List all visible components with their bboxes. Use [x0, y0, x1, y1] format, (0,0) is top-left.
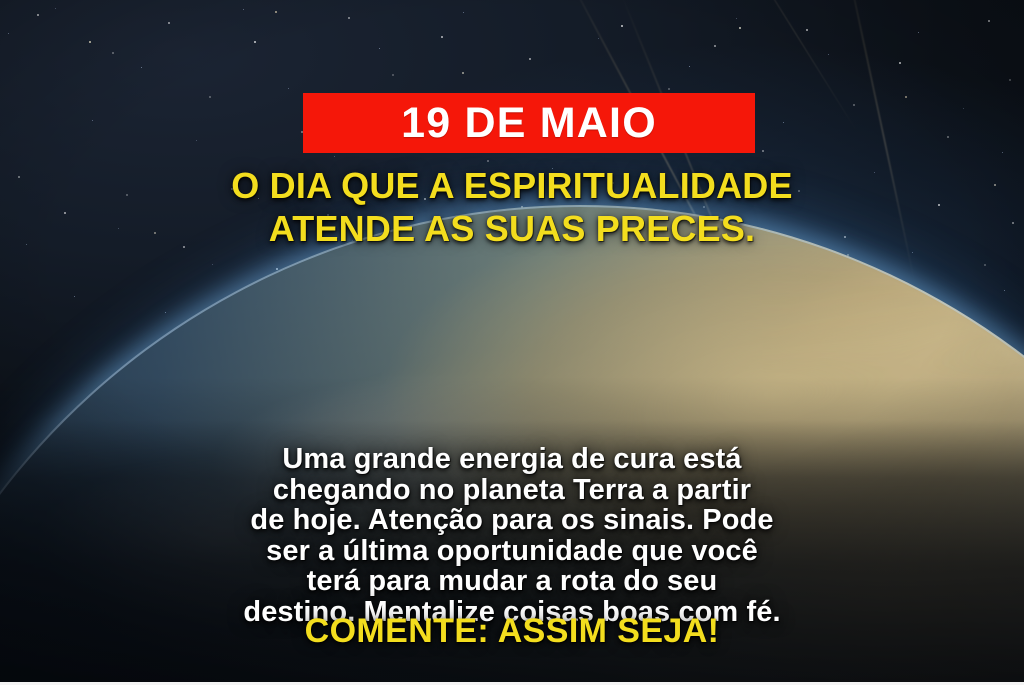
date-banner-label: 19 DE MAIO: [401, 102, 657, 145]
body-copy-line-4: ser a última oportunidade que você: [62, 536, 962, 567]
body-copy: Uma grande energia de cura está chegando…: [62, 444, 962, 627]
poster-canvas: 19 DE MAIO O DIA QUE A ESPIRITUALIDADE A…: [0, 0, 1024, 685]
body-copy-line-3: de hoje. Atenção para os sinais. Pode: [62, 505, 962, 536]
headline-line-2: ATENDE AS SUAS PRECES.: [0, 208, 1024, 251]
date-banner: 19 DE MAIO: [303, 93, 755, 153]
body-copy-line-5: terá para mudar a rota do seu: [62, 566, 962, 597]
poster-content: 19 DE MAIO O DIA QUE A ESPIRITUALIDADE A…: [0, 0, 1024, 685]
body-copy-line-1: Uma grande energia de cura está: [62, 444, 962, 475]
headline: O DIA QUE A ESPIRITUALIDADE ATENDE AS SU…: [0, 165, 1024, 251]
headline-line-1: O DIA QUE A ESPIRITUALIDADE: [0, 165, 1024, 208]
body-copy-line-2: chegando no planeta Terra a partir: [62, 475, 962, 506]
call-to-action-text: COMENTE: ASSIM SEJA!: [0, 613, 1024, 650]
